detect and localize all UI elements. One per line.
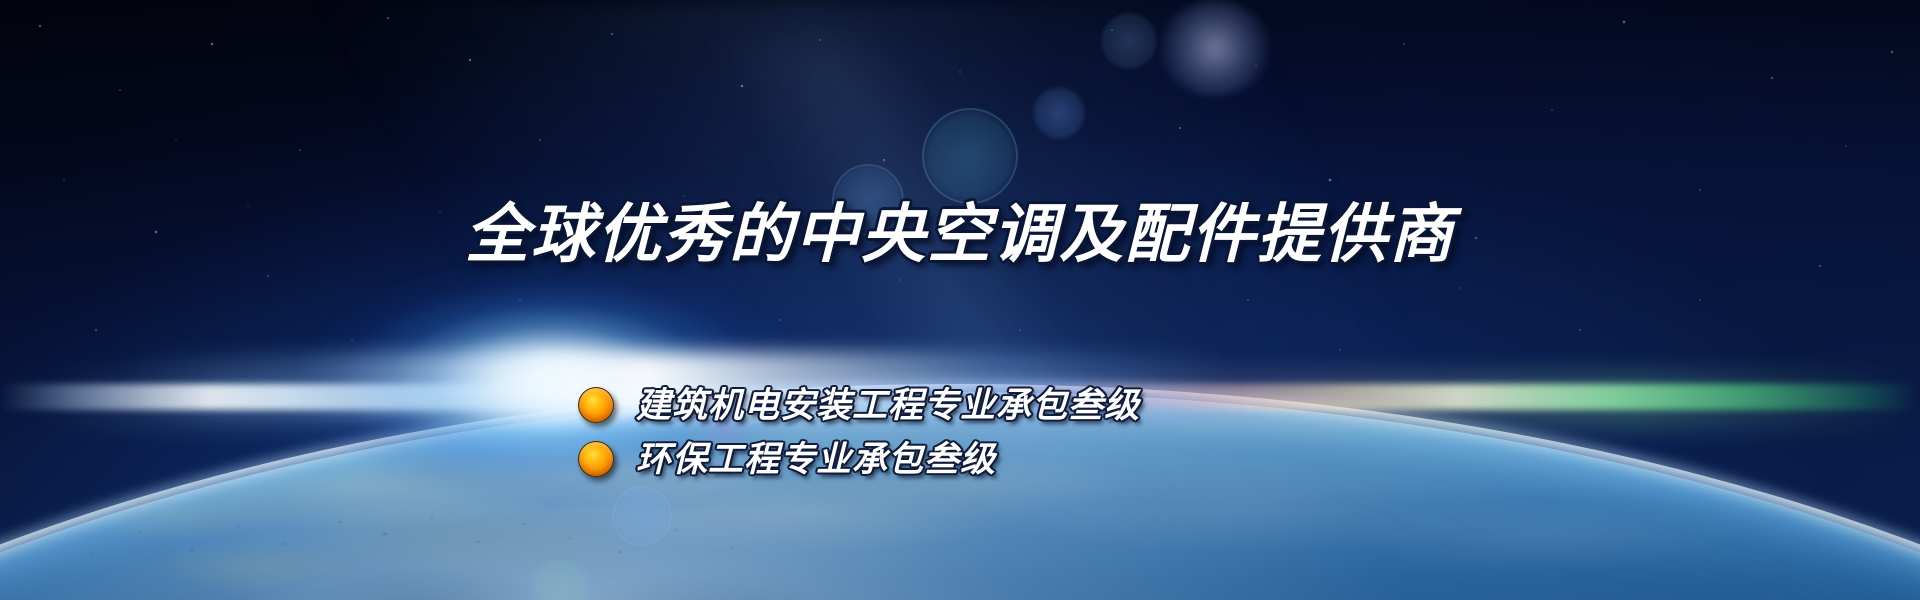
feature-list: 建筑机电安装工程专业承包叁级 环保工程专业承包叁级 xyxy=(578,378,1140,486)
orange-dot-icon xyxy=(578,441,614,477)
hero-banner: 全球优秀的中央空调及配件提供商 建筑机电安装工程专业承包叁级 环保工程专业承包叁… xyxy=(0,0,1920,600)
orange-dot-icon xyxy=(578,387,614,423)
list-item: 环保工程专业承包叁级 xyxy=(578,432,1140,486)
list-item: 建筑机电安装工程专业承包叁级 xyxy=(578,378,1140,432)
banner-content: 全球优秀的中央空调及配件提供商 建筑机电安装工程专业承包叁级 环保工程专业承包叁… xyxy=(0,0,1920,600)
list-item-label: 环保工程专业承包叁级 xyxy=(636,442,996,477)
list-item-label: 建筑机电安装工程专业承包叁级 xyxy=(636,388,1140,423)
page-title: 全球优秀的中央空调及配件提供商 xyxy=(0,202,1920,266)
